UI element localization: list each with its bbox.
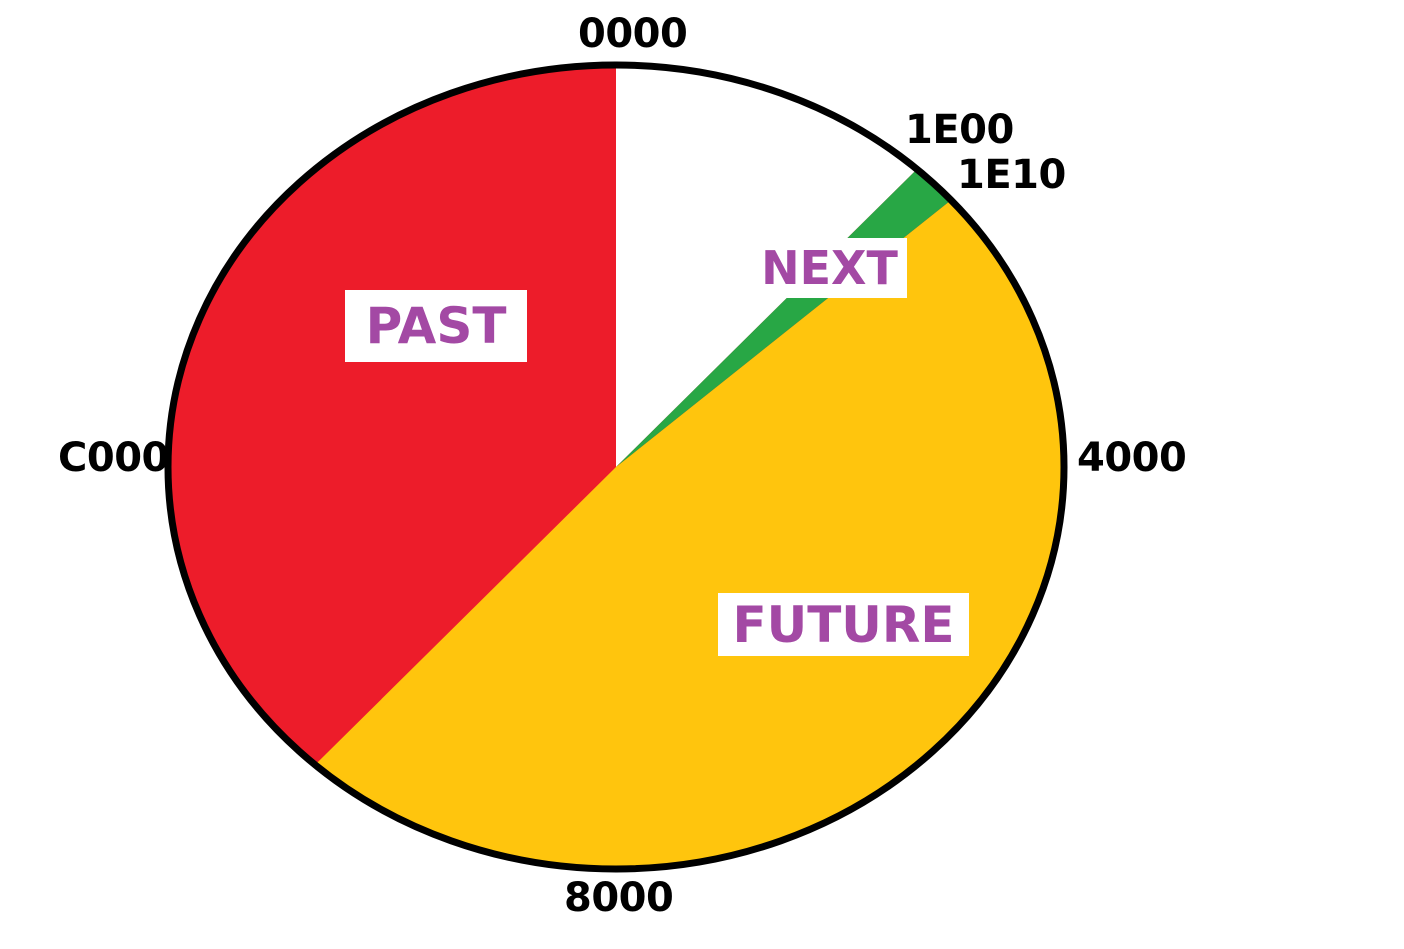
- sequence-dial-chart: [0, 0, 1404, 949]
- tick-label-4000: 4000: [1077, 438, 1186, 478]
- region-label-next: NEXT: [752, 238, 907, 298]
- tick-label-C000: C000: [58, 438, 169, 478]
- tick-label-0000: 0000: [578, 14, 687, 54]
- tick-label-1E00: 1E00: [905, 110, 1014, 150]
- tick-label-8000: 8000: [564, 878, 673, 918]
- diagram-canvas: 0000 1E00 1E10 4000 8000 C000 PAST NEXT …: [0, 0, 1404, 949]
- region-label-future: FUTURE: [718, 593, 969, 656]
- tick-label-1E10: 1E10: [957, 155, 1066, 195]
- region-label-past: PAST: [345, 290, 527, 362]
